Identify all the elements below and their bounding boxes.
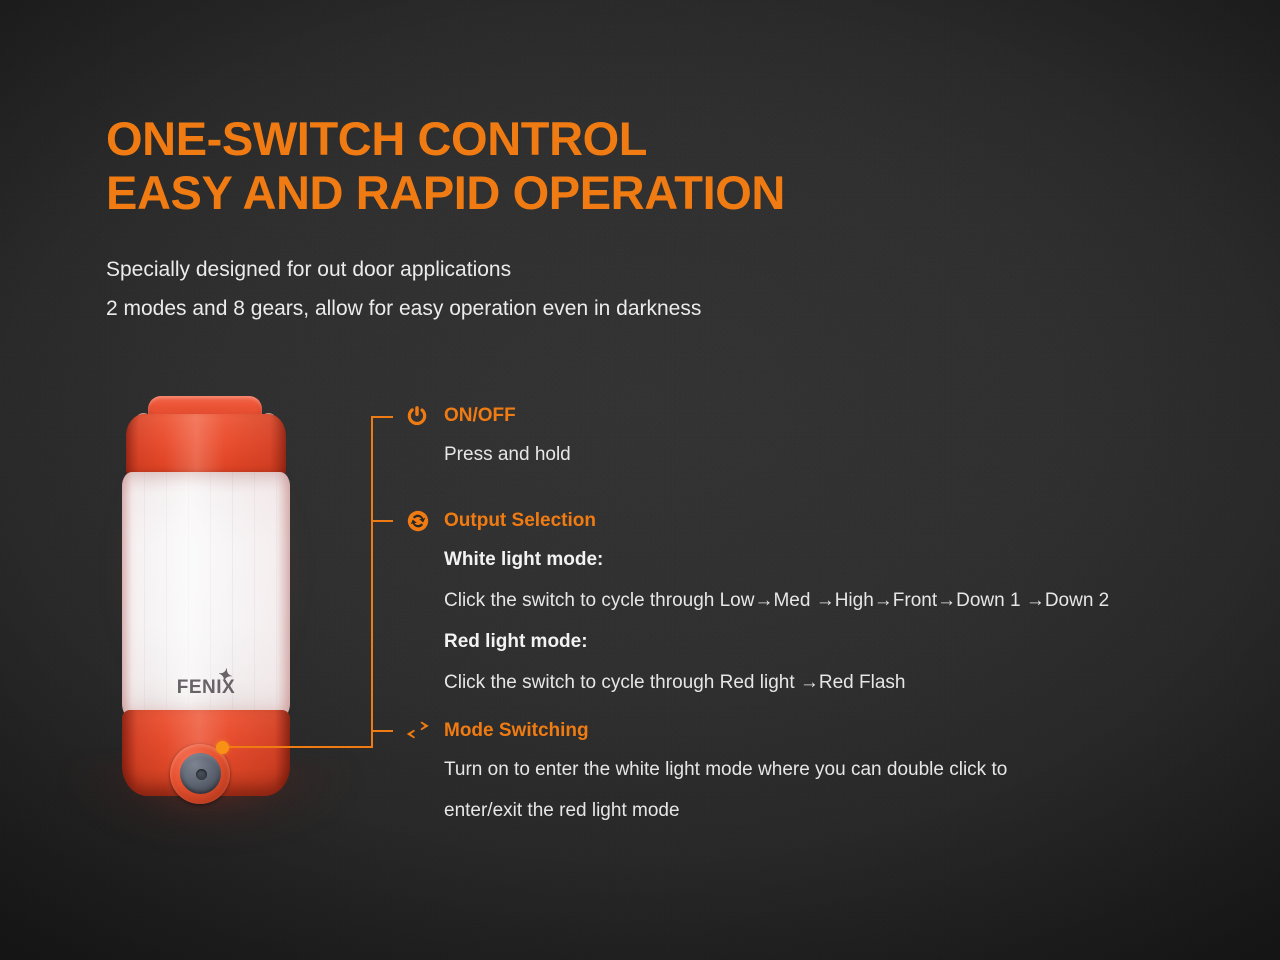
callout-output-selection: Output Selection White light mode: Click…: [406, 509, 1109, 700]
connector-tick-output: [371, 520, 393, 522]
lantern-power-switch[interactable]: [180, 753, 221, 794]
callout-body: Press and hold: [444, 437, 571, 472]
callout-title: Output Selection: [444, 510, 596, 532]
callout-on-off: ON/OFF Press and hold: [406, 404, 571, 472]
cycle-refresh-icon: [406, 509, 444, 533]
callout-title: ON/OFF: [444, 405, 516, 427]
callout-line: enter/exit the red light mode: [444, 793, 1007, 828]
brand-logo: FENIX ✦: [122, 677, 290, 699]
connector-tick-mode: [371, 730, 393, 732]
connector-anchor-dot: [216, 741, 229, 754]
page-title: ONE-SWITCH CONTROL EASY AND RAPID OPERAT…: [106, 112, 785, 220]
callout-title: Mode Switching: [444, 720, 589, 742]
callout-line: Click the switch to cycle through Red li…: [444, 665, 1109, 700]
mode-switch-arrows-icon: [406, 720, 444, 742]
connector-vertical-spine: [371, 416, 373, 748]
callout-header: Output Selection: [406, 509, 1109, 533]
headline-line-1: ONE-SWITCH CONTROL: [106, 112, 785, 166]
callout-line: Turn on to enter the white light mode wh…: [444, 752, 1007, 787]
connector-tick-onoff: [371, 416, 393, 418]
subtitle-line-1: Specially designed for out door applicat…: [106, 250, 701, 289]
callout-line: White light mode:: [444, 542, 1109, 577]
callout-mode-switching: Mode Switching Turn on to enter the whit…: [406, 719, 1007, 828]
connector-to-switch: [222, 746, 373, 748]
headline-line-2: EASY AND RAPID OPERATION: [106, 166, 785, 220]
callout-body: Turn on to enter the white light mode wh…: [444, 752, 1007, 828]
product-image-lantern: FENIX ✦: [110, 396, 302, 796]
callout-header: ON/OFF: [406, 404, 571, 428]
callout-body: White light mode: Click the switch to cy…: [444, 542, 1109, 700]
product-feature-slide: ONE-SWITCH CONTROL EASY AND RAPID OPERAT…: [0, 0, 1280, 960]
callout-line: Click the switch to cycle through Low→Me…: [444, 583, 1109, 618]
page-subtitle: Specially designed for out door applicat…: [106, 250, 701, 328]
power-icon: [406, 405, 444, 427]
callout-line: Press and hold: [444, 437, 571, 472]
subtitle-line-2: 2 modes and 8 gears, allow for easy oper…: [106, 289, 701, 328]
lantern-diffuser-panel: FENIX ✦: [122, 472, 290, 718]
callout-line: Red light mode:: [444, 624, 1109, 659]
callout-header: Mode Switching: [406, 719, 1007, 743]
lantern-top-cap: [126, 414, 286, 478]
